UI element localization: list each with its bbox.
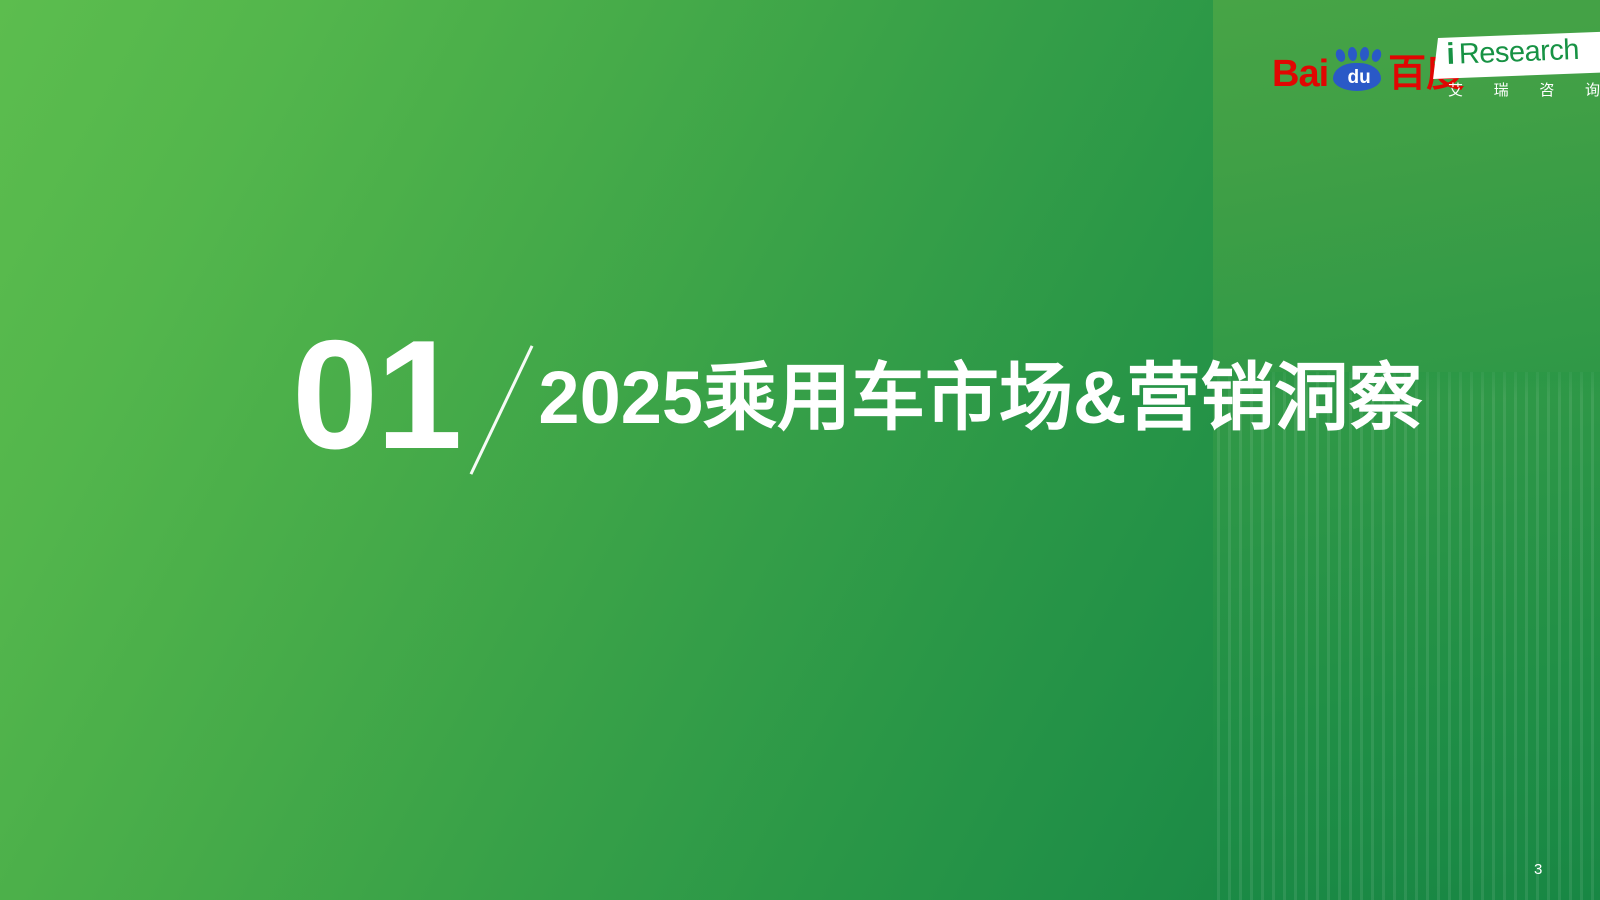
paw-toe-3 [1359,47,1369,62]
iresearch-name: Research [1458,35,1579,70]
paw-toe-4 [1370,48,1383,63]
iresearch-chinese-name: 艾 瑞 咨 询 [1448,82,1600,99]
bear-paw-icon: du [1329,47,1385,93]
slash-separator-icon [460,323,544,473]
iresearch-cn-char-4: 询 [1585,82,1600,99]
page-number: 3 [1534,861,1542,879]
baidu-paw-label: du [1342,67,1376,88]
iresearch-cn-char-3: 咨 [1539,82,1554,99]
iresearch-cn-char-2: 瑞 [1494,82,1509,99]
paw-toe-1 [1334,48,1347,63]
iresearch-wordmark: i Research [1446,34,1600,70]
page-title: 2025乘用车市场&营销洞察 [538,355,1422,441]
paw-toe-2 [1347,47,1357,62]
iresearch-logo: i Research 艾 瑞 咨 询 [1438,30,1600,108]
baidu-wordmark-latin: Bai [1272,55,1328,93]
iresearch-cn-char-1: 艾 [1448,82,1463,99]
section-number: 01 [292,320,460,470]
slide-section-divider: Bai du 百度 i Research 艾 瑞 咨 询 01 2025乘用车市… [0,0,1600,900]
section-title-block: 01 2025乘用车市场&营销洞察 [292,318,1422,478]
iresearch-prefix: i [1446,40,1455,70]
